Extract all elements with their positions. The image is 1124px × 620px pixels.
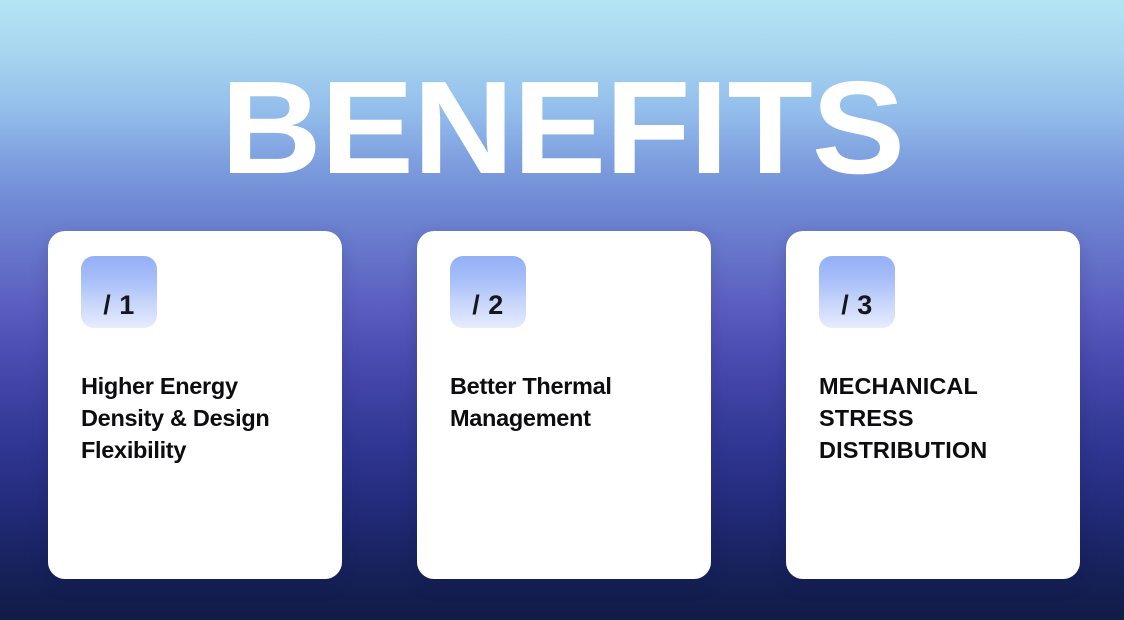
benefit-number-badge-3: / 3 xyxy=(819,256,895,328)
benefit-title-3: MECHANICAL STRESS DISTRIBUTION xyxy=(819,328,1080,466)
benefits-slide: BENEFITS / 1 Higher Energy Density & Des… xyxy=(0,0,1124,620)
benefit-number-label-3: / 3 xyxy=(841,292,873,319)
benefit-cards-row: / 1 Higher Energy Density & Design Flexi… xyxy=(48,231,1080,579)
benefit-card-1[interactable]: / 1 Higher Energy Density & Design Flexi… xyxy=(48,231,342,579)
benefit-number-label-1: / 1 xyxy=(103,292,135,319)
page-title-container: BENEFITS xyxy=(0,62,1124,194)
benefit-title-2: Better Thermal Management xyxy=(450,328,711,434)
benefit-card-3[interactable]: / 3 MECHANICAL STRESS DISTRIBUTION xyxy=(786,231,1080,579)
benefit-card-2[interactable]: / 2 Better Thermal Management xyxy=(417,231,711,579)
benefit-number-badge-2: / 2 xyxy=(450,256,526,328)
benefit-number-badge-1: / 1 xyxy=(81,256,157,328)
page-title: BENEFITS xyxy=(220,62,903,194)
benefit-title-1: Higher Energy Density & Design Flexibili… xyxy=(81,328,342,466)
benefit-number-label-2: / 2 xyxy=(472,292,504,319)
